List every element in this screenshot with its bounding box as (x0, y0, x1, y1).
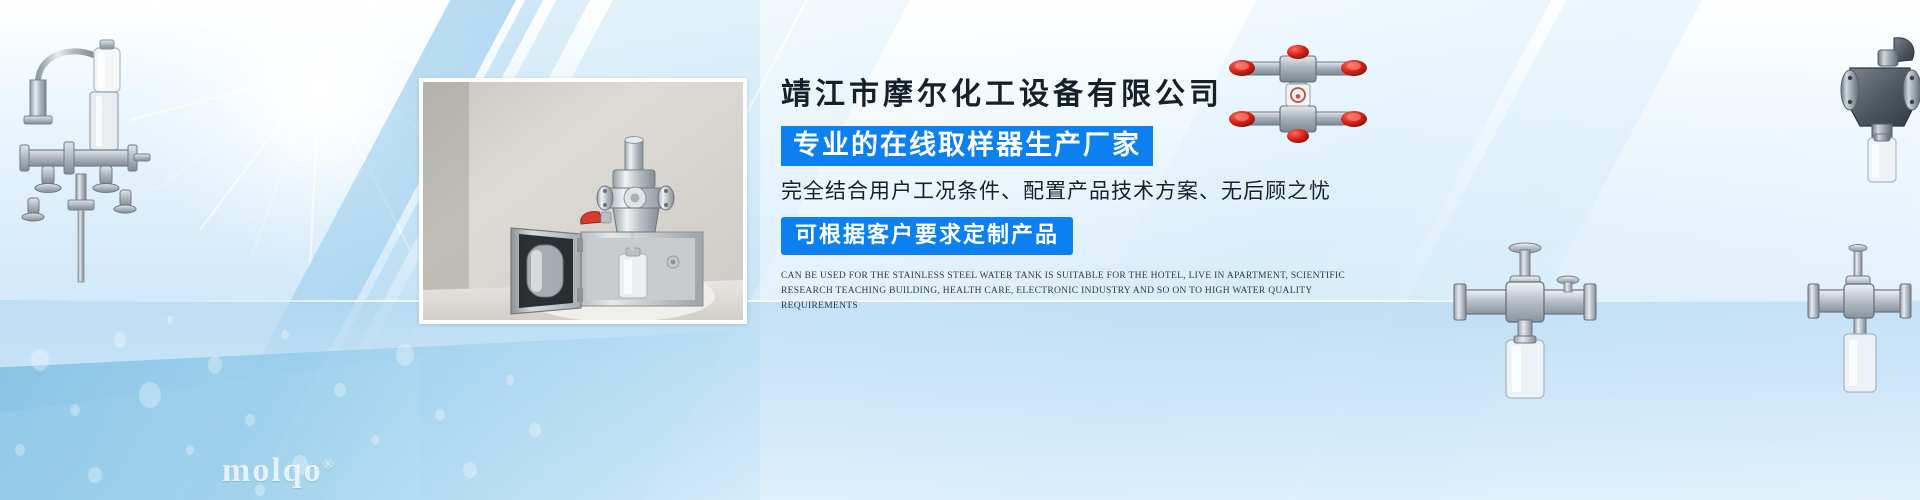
sanitary-valve-icon (1800, 242, 1920, 422)
tagline-primary: 专业的在线取样器生产厂家 (781, 126, 1153, 166)
registered-mark-icon: ® (323, 458, 335, 473)
inline-sampler-icon (1440, 232, 1610, 412)
foreground-wedge (0, 330, 760, 500)
company-name: 靖江市摩尔化工设备有限公司 (781, 78, 1401, 112)
sampler-assembly-icon (8, 30, 168, 290)
watermark-logo: molqo® (222, 452, 335, 490)
tagline-secondary: 可根据客户要求定制产品 (781, 217, 1073, 255)
promotional-banner: ● (0, 0, 1920, 500)
watermark-text: molqo (222, 452, 323, 489)
banner-text-block: 靖江市摩尔化工设备有限公司 专业的在线取样器生产厂家 完全结合用户工况条件、配置… (781, 78, 1401, 314)
foreground-wedge (0, 355, 420, 500)
tagline-subline: 完全结合用户工况条件、配置产品技术方案、无后顾之忧 (781, 180, 1401, 204)
product-photo (419, 78, 747, 324)
product-photo-image (423, 82, 743, 320)
english-description: CAN BE USED FOR THE STAINLESS STEEL WATE… (781, 269, 1381, 314)
flanged-valve-icon (1838, 28, 1920, 198)
